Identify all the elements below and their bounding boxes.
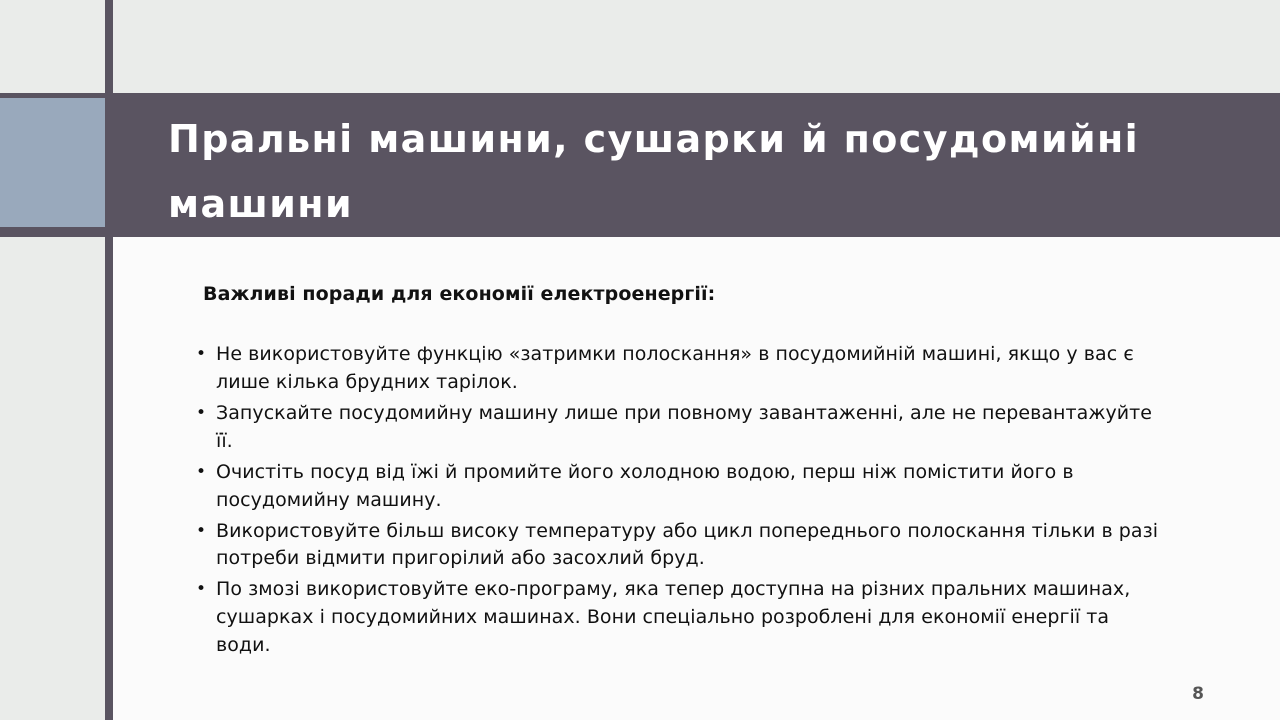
list-item-text: Не використовуйте функцію «затримки поло…: [216, 343, 1134, 393]
list-item-text: Очистіть посуд від їжі й промийте його х…: [216, 461, 1074, 511]
accent-square: [0, 98, 105, 227]
list-item: • Запускайте посудомийну машину лише при…: [193, 400, 1163, 456]
list-item: • Не використовуйте функцію «затримки по…: [193, 341, 1163, 397]
bullet-icon: •: [196, 576, 206, 602]
slide-title-bar: Пральні машини, сушарки й посудомийні ма…: [105, 93, 1280, 237]
bullet-icon: •: [196, 341, 206, 367]
bullet-icon: •: [196, 518, 206, 544]
list-item-text: Запускайте посудомийну машину лише при п…: [216, 402, 1152, 452]
list-item: • По змозі використовуйте еко-програму, …: [193, 576, 1163, 660]
bullet-icon: •: [196, 400, 206, 426]
page-title: Пральні машини, сушарки й посудомийні ма…: [168, 107, 1240, 238]
top-decorative-band: [113, 0, 1280, 93]
bullet-icon: •: [196, 459, 206, 485]
lead-paragraph: Важливі поради для економії електроенерг…: [203, 283, 715, 305]
list-item: • Використовуйте більш високу температур…: [193, 518, 1163, 574]
slide-content: Важливі поради для економії електроенерг…: [113, 237, 1280, 720]
accent-square-bottom-rule: [0, 227, 105, 237]
list-item-text: Використовуйте більш високу температуру …: [216, 520, 1158, 570]
slide: Пральні машини, сушарки й посудомийні ма…: [0, 0, 1280, 720]
list-item-text: По змозі використовуйте еко-програму, як…: [216, 578, 1130, 656]
list-item: • Очистіть посуд від їжі й промийте його…: [193, 459, 1163, 515]
page-number: 8: [1192, 684, 1204, 704]
tips-list: • Не використовуйте функцію «затримки по…: [193, 341, 1163, 663]
